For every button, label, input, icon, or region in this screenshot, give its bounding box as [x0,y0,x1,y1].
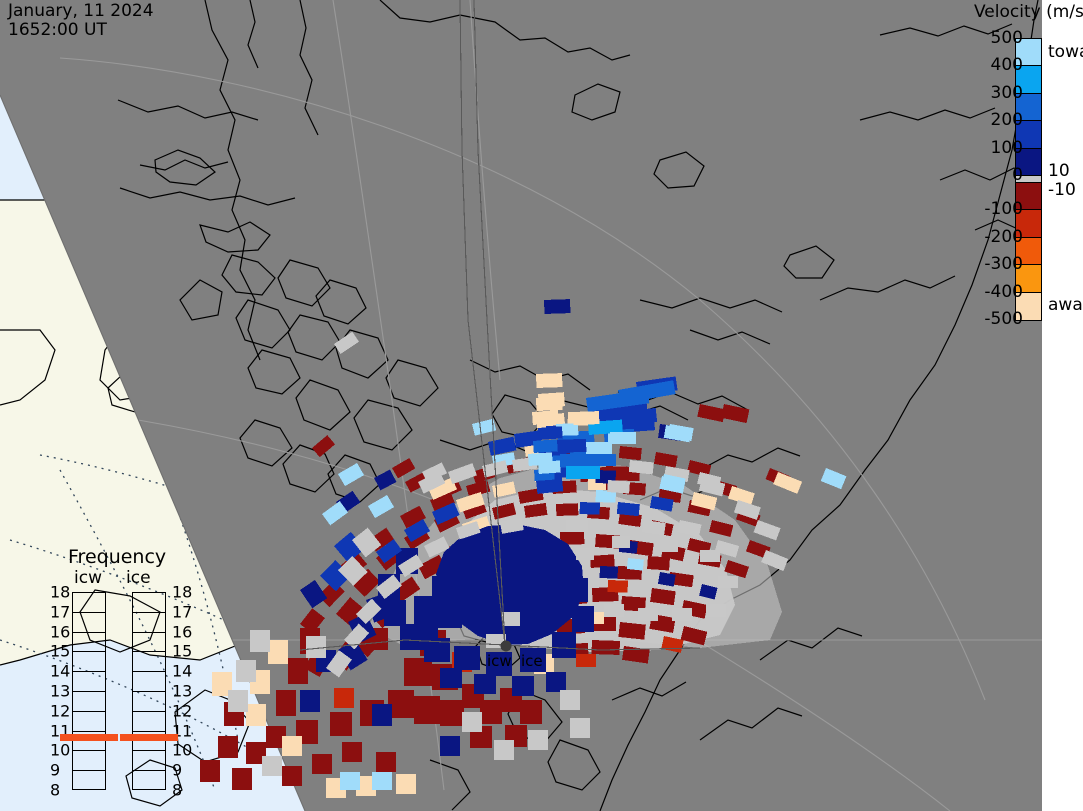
frequency-legend-title: Frequency [68,546,166,568]
frequency-tick-right-10: 10 [172,741,192,760]
frequency-marker-icw [60,734,118,741]
frequency-tick-left-13: 13 [50,682,70,701]
frequency-segment-icw-1 [73,613,105,633]
velocity-tick--300: -300 [984,254,1023,274]
frequency-bar-label-icw: icw [74,568,102,588]
frequency-tick-right-8: 8 [172,781,182,800]
site-label-ice: ice [521,652,543,670]
frequency-marker-ice [120,734,178,741]
frequency-tick-left-14: 14 [50,662,70,681]
frequency-bar-icw[interactable] [72,592,106,790]
frequency-segment-ice-5 [133,692,165,712]
velocity-tick--100: -100 [984,199,1023,219]
frequency-segment-icw-2 [73,633,105,653]
frequency-segment-icw-9 [73,771,105,791]
timestamp-date: January, 11 2024 [8,1,154,21]
frequency-tick-right-13: 13 [172,682,192,701]
frequency-bar-label-ice: ice [126,568,151,588]
frequency-segment-icw-6 [73,712,105,732]
frequency-tick-left-10: 10 [50,741,70,760]
frequency-segment-icw-4 [73,672,105,692]
velocity-label-zero-negative: -10 [1048,180,1076,200]
velocity-tick--200: -200 [984,227,1023,247]
velocity-tick-300: 300 [991,83,1023,103]
frequency-tick-left-8: 8 [50,781,60,800]
velocity-label-toward: toward [1048,42,1083,62]
frequency-tick-right-18: 18 [172,583,192,602]
frequency-tick-right-15: 15 [172,642,192,661]
velocity-tick-400: 400 [991,55,1023,75]
frequency-tick-left-9: 9 [50,761,60,780]
fan-plot-window: Frequency icw ice 18171615141312111098 1… [0,0,1083,811]
map-canvas[interactable]: Frequency icw ice 18171615141312111098 1… [0,0,1042,811]
timestamp-time: 1652:00 UT [8,20,107,40]
frequency-legend: Frequency icw ice 18171615141312111098 1… [52,546,197,791]
velocity-tick-100: 100 [991,138,1023,158]
frequency-tick-left-15: 15 [50,642,70,661]
frequency-segment-ice-9 [133,771,165,791]
frequency-segment-icw-5 [73,692,105,712]
velocity-tick-500: 500 [991,28,1023,48]
frequency-tick-left-17: 17 [50,602,70,621]
velocity-tick-200: 200 [991,110,1023,130]
frequency-tick-right-12: 12 [172,701,192,720]
timestamp: January, 11 2024 1652:00 UT [8,2,154,40]
frequency-segment-ice-0 [133,593,165,613]
frequency-segment-ice-2 [133,633,165,653]
velocity-tick--400: -400 [984,282,1023,302]
frequency-tick-right-14: 14 [172,662,192,681]
frequency-segment-ice-6 [133,712,165,732]
site-label-icw: icw [487,652,512,670]
frequency-tick-left-16: 16 [50,622,70,641]
frequency-tick-right-9: 9 [172,761,182,780]
velocity-label-zero-positive: 10 [1048,161,1070,181]
frequency-bar-ice[interactable] [132,592,166,790]
frequency-segment-ice-1 [133,613,165,633]
frequency-tick-right-16: 16 [172,622,192,641]
frequency-segment-ice-3 [133,652,165,672]
velocity-label-away: away [1048,295,1083,315]
frequency-segment-ice-4 [133,672,165,692]
frequency-segment-icw-8 [73,751,105,771]
frequency-segment-icw-3 [73,652,105,672]
velocity-legend: Velocity (m/s) 5004003002001000-100-200-… [968,2,1083,332]
radar-site-marker[interactable] [501,641,512,652]
velocity-tick-0: 0 [1012,165,1023,185]
frequency-segment-icw-0 [73,593,105,613]
frequency-tick-left-18: 18 [50,583,70,602]
frequency-segment-ice-8 [133,751,165,771]
frequency-tick-right-17: 17 [172,602,192,621]
velocity-legend-title: Velocity (m/s) [974,2,1083,22]
velocity-tick--500: -500 [984,309,1023,329]
frequency-tick-left-12: 12 [50,701,70,720]
